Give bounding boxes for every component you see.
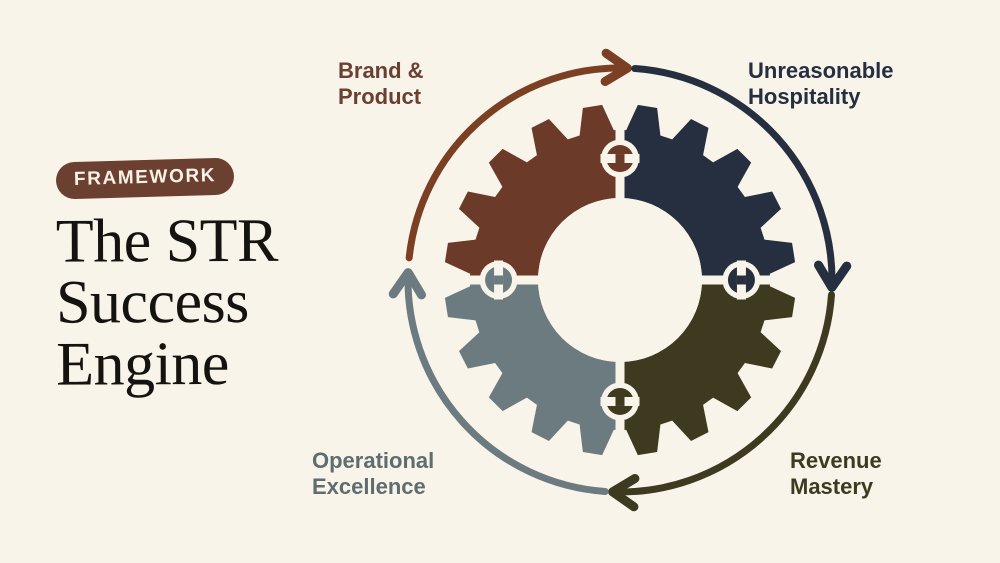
connector-top-neck [616, 154, 625, 163]
connector-bottom-neck [616, 397, 625, 406]
connector-right-neck [737, 276, 746, 285]
infographic-canvas: FRAMEWORK The STR Success Engine Brand &… [0, 0, 1000, 563]
gear-cycle-diagram [0, 0, 1000, 563]
connector-left-neck [494, 276, 503, 285]
gear-hub [538, 198, 702, 362]
